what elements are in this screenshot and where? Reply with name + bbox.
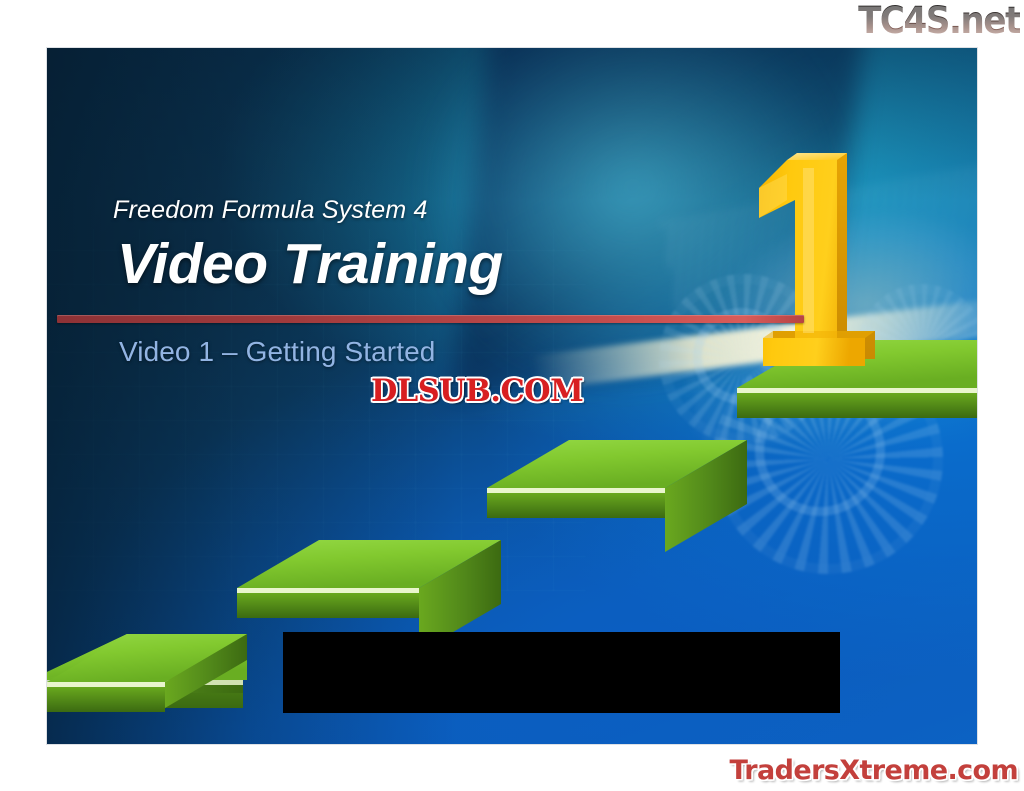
redaction-bar bbox=[283, 632, 840, 713]
presentation-slide: Freedom Formula System 4 Video Training … bbox=[47, 48, 977, 744]
title-divider-rule bbox=[57, 315, 804, 323]
page-title: Video Training bbox=[117, 231, 503, 297]
page-canvas: TC4S.net bbox=[0, 0, 1024, 791]
dlsub-watermark: DLSUB.COM bbox=[371, 373, 583, 409]
tradersxtreme-watermark: TradersXtreme.com bbox=[729, 755, 1018, 786]
slide-eyebrow: Freedom Formula System 4 bbox=[113, 196, 428, 225]
tc4s-logo: TC4S.net bbox=[858, 1, 1020, 41]
slide-subhead: Video 1 – Getting Started bbox=[119, 336, 435, 368]
